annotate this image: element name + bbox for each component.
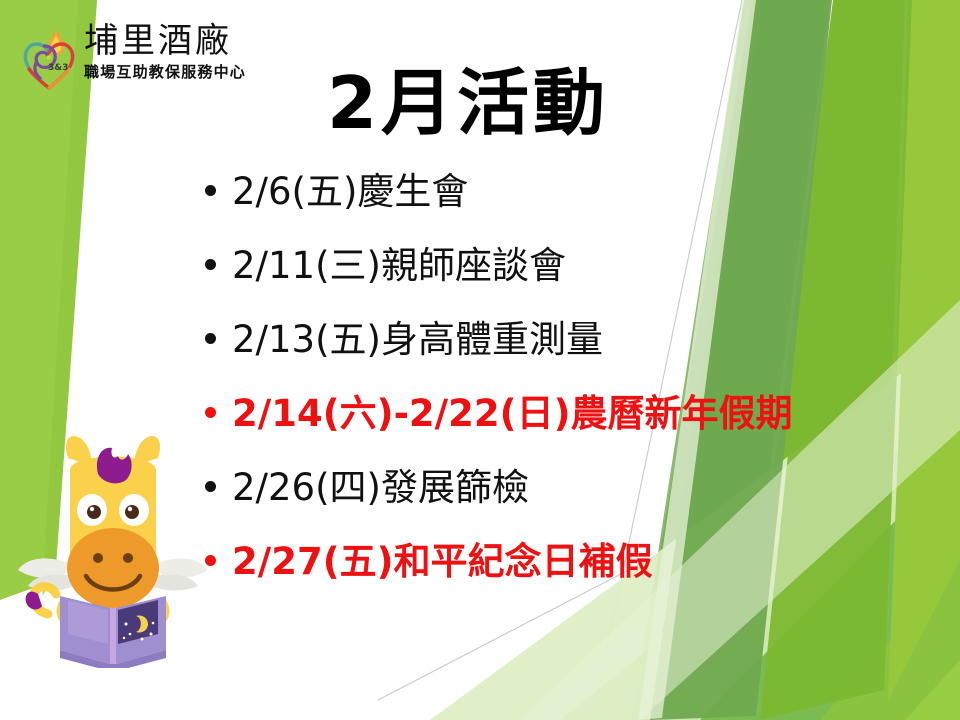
list-item: 2/26(四)發展篩檢 [205, 468, 945, 542]
bullet-dot-icon [205, 185, 216, 196]
tail-tuft [26, 592, 42, 610]
nostril-right [123, 553, 133, 563]
activity-list: 2/6(五)慶生會 2/11(三)親師座談會 2/13(五)身高體重測量 2/1… [205, 172, 945, 616]
logo-mark-text: 3&3 [48, 63, 68, 73]
list-item: 2/14(六)-2/22(日)農曆新年假期 [205, 394, 945, 468]
list-item-label: 2/26(四)發展篩檢 [232, 468, 529, 509]
bullet-dot-icon [205, 555, 216, 566]
heart-spiral-flame-logo: 3&3 [18, 26, 80, 94]
list-item: 2/11(三)親師座談會 [205, 246, 945, 320]
bullet-dot-icon [205, 333, 216, 344]
list-item: 2/6(五)慶生會 [205, 172, 945, 246]
brand-logo: 3&3 埔里酒廠 職場互助教保服務中心 [18, 24, 246, 94]
bullet-dot-icon [205, 481, 216, 492]
bullet-dot-icon [205, 259, 216, 270]
list-item-label: 2/13(五)身高體重測量 [232, 320, 603, 361]
muzzle [67, 528, 159, 608]
bullet-dot-icon [205, 407, 216, 418]
nostril-left [93, 553, 103, 563]
spiral-center-dot [46, 55, 50, 59]
list-item-label: 2/11(三)親師座談會 [232, 246, 566, 287]
list-item-label: 2/6(五)慶生會 [232, 172, 468, 213]
horse-reading-book-illustration [8, 418, 218, 668]
list-item-label: 2/27(五)和平紀念日補假 [232, 542, 653, 583]
list-item: 2/13(五)身高體重測量 [205, 320, 945, 394]
slide-root: 3&3 埔里酒廠 職場互助教保服務中心 2月活動 2/6(五)慶生會 2/11(… [0, 0, 960, 720]
logo-title: 埔里酒廠 [84, 24, 246, 60]
list-item: 2/27(五)和平紀念日補假 [205, 542, 945, 616]
logo-subtitle: 職場互助教保服務中心 [84, 64, 246, 81]
mane [97, 448, 132, 484]
list-item-label: 2/14(六)-2/22(日)農曆新年假期 [232, 394, 793, 435]
